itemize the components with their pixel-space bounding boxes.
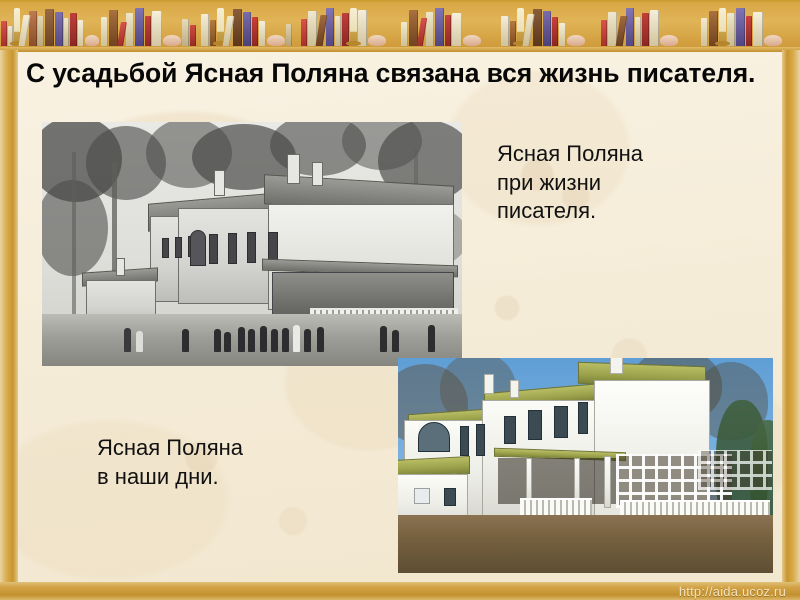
book-spine bbox=[601, 20, 607, 46]
photo-historical-estate bbox=[42, 122, 462, 366]
bookshelf-unit bbox=[500, 3, 600, 48]
book-spine bbox=[626, 8, 634, 46]
person-figure bbox=[428, 325, 435, 352]
book-spine bbox=[38, 16, 44, 46]
window bbox=[476, 424, 485, 456]
chimney bbox=[116, 258, 125, 276]
arched-window bbox=[190, 230, 206, 266]
window bbox=[162, 238, 169, 258]
book-spine bbox=[746, 16, 752, 46]
book-spine bbox=[152, 11, 162, 46]
book-spine bbox=[126, 13, 134, 46]
book-spine bbox=[635, 17, 641, 46]
book-spine bbox=[543, 11, 551, 46]
bookshelf-unit bbox=[300, 3, 400, 48]
book-spine bbox=[650, 10, 659, 46]
bookshelf-unit bbox=[400, 3, 500, 48]
bookshelf-unit bbox=[700, 3, 800, 48]
person-figure bbox=[124, 328, 131, 352]
person-figure bbox=[293, 325, 300, 352]
chimney bbox=[484, 374, 494, 394]
ornament-icon bbox=[163, 35, 181, 46]
window bbox=[175, 237, 182, 258]
person-figure bbox=[238, 327, 245, 352]
book-spine bbox=[135, 8, 144, 46]
book-spine bbox=[445, 15, 451, 46]
window bbox=[444, 488, 456, 506]
person-figure bbox=[260, 326, 267, 352]
chimney bbox=[610, 358, 623, 374]
book-spine bbox=[55, 12, 63, 46]
person-figure bbox=[182, 329, 189, 352]
book-spine bbox=[642, 13, 649, 46]
book-spine bbox=[64, 18, 69, 46]
person-figure bbox=[317, 327, 324, 352]
ornament-icon bbox=[463, 35, 481, 46]
person-figure bbox=[282, 328, 289, 352]
bookshelf-unit bbox=[0, 3, 100, 48]
book-spine bbox=[401, 22, 408, 46]
caption-line: в наши дни. bbox=[97, 464, 219, 489]
photo-modern-estate bbox=[398, 358, 773, 573]
caption-line: при жизни bbox=[497, 170, 601, 195]
person-figure bbox=[392, 330, 399, 352]
shelf-ledge bbox=[0, 47, 800, 52]
person-figure bbox=[214, 329, 221, 352]
chimney bbox=[214, 170, 225, 196]
window bbox=[228, 233, 237, 264]
book-spine bbox=[101, 17, 108, 46]
bookshelf-unit bbox=[100, 3, 200, 48]
window bbox=[247, 232, 256, 263]
book-spine bbox=[552, 17, 558, 46]
book-spine bbox=[243, 12, 251, 46]
bookshelf-row bbox=[0, 3, 800, 48]
window bbox=[209, 234, 218, 264]
source-watermark: http://aida.ucoz.ru bbox=[679, 584, 786, 599]
book-spine bbox=[335, 16, 341, 46]
chimney bbox=[510, 380, 519, 398]
book-spine bbox=[426, 12, 434, 46]
book-spine bbox=[358, 10, 367, 46]
book-spine bbox=[286, 24, 292, 46]
book-spine bbox=[452, 13, 462, 46]
candlestick-icon bbox=[350, 8, 357, 46]
ornament-icon bbox=[85, 35, 99, 46]
book-spine bbox=[736, 8, 745, 46]
caption-historical: Ясная Поляна при жизни писателя. bbox=[497, 140, 747, 226]
book-spine bbox=[201, 14, 209, 46]
book-spine bbox=[70, 13, 77, 46]
gold-rail-left bbox=[0, 50, 18, 587]
book-spine bbox=[501, 16, 509, 46]
person-figure bbox=[271, 329, 278, 352]
window bbox=[554, 406, 568, 438]
bookshelf-unit bbox=[600, 3, 700, 48]
book-spine bbox=[701, 18, 708, 46]
porch-column bbox=[604, 456, 611, 508]
ornament-icon bbox=[660, 35, 678, 46]
arched-window bbox=[418, 422, 450, 452]
person-figure bbox=[304, 329, 311, 352]
book-spine bbox=[1, 21, 7, 46]
bookshelf-unit bbox=[200, 3, 300, 48]
window bbox=[578, 402, 588, 434]
bookshelf-border bbox=[0, 0, 800, 52]
ornament-icon bbox=[368, 35, 386, 46]
book-spine bbox=[145, 16, 151, 46]
book-spine bbox=[109, 10, 118, 46]
book-spine bbox=[435, 8, 444, 46]
presentation-slide: С усадьбой Ясная Поляна связана вся жизн… bbox=[0, 0, 800, 600]
book-spine bbox=[559, 23, 566, 46]
book-spine bbox=[190, 25, 196, 46]
candlestick-icon bbox=[719, 8, 726, 46]
window bbox=[528, 410, 542, 440]
ornament-icon bbox=[267, 35, 285, 46]
book-spine bbox=[78, 20, 84, 46]
book-spine bbox=[753, 12, 763, 46]
tree-trunk bbox=[72, 152, 76, 322]
caption-line: Ясная Поляна bbox=[497, 141, 643, 166]
caption-line: писателя. bbox=[497, 198, 596, 223]
window bbox=[504, 416, 516, 444]
book-spine bbox=[233, 9, 242, 46]
ornament-icon bbox=[567, 35, 585, 46]
book-spine bbox=[301, 19, 307, 46]
chimney bbox=[287, 154, 300, 184]
caption-modern: Ясная Поляна в наши дни. bbox=[97, 434, 387, 491]
book-spine bbox=[326, 8, 334, 46]
chimney bbox=[312, 162, 323, 186]
gold-rail-right bbox=[782, 50, 800, 587]
lattice-pergola bbox=[698, 450, 772, 490]
photo-foreground-ground bbox=[398, 515, 773, 573]
book-spine bbox=[259, 21, 266, 46]
book-spine bbox=[252, 17, 258, 46]
page-title: С усадьбой Ясная Поляна связана вся жизн… bbox=[26, 57, 756, 90]
caption-line: Ясная Поляна bbox=[97, 435, 243, 460]
ornament-icon bbox=[764, 35, 782, 46]
window bbox=[460, 426, 469, 456]
person-figure bbox=[380, 326, 387, 352]
person-figure bbox=[224, 332, 231, 352]
person-figure bbox=[248, 329, 255, 352]
window bbox=[414, 488, 430, 504]
book-spine bbox=[45, 9, 54, 46]
book-spine bbox=[182, 19, 189, 46]
person-figure bbox=[136, 331, 143, 352]
